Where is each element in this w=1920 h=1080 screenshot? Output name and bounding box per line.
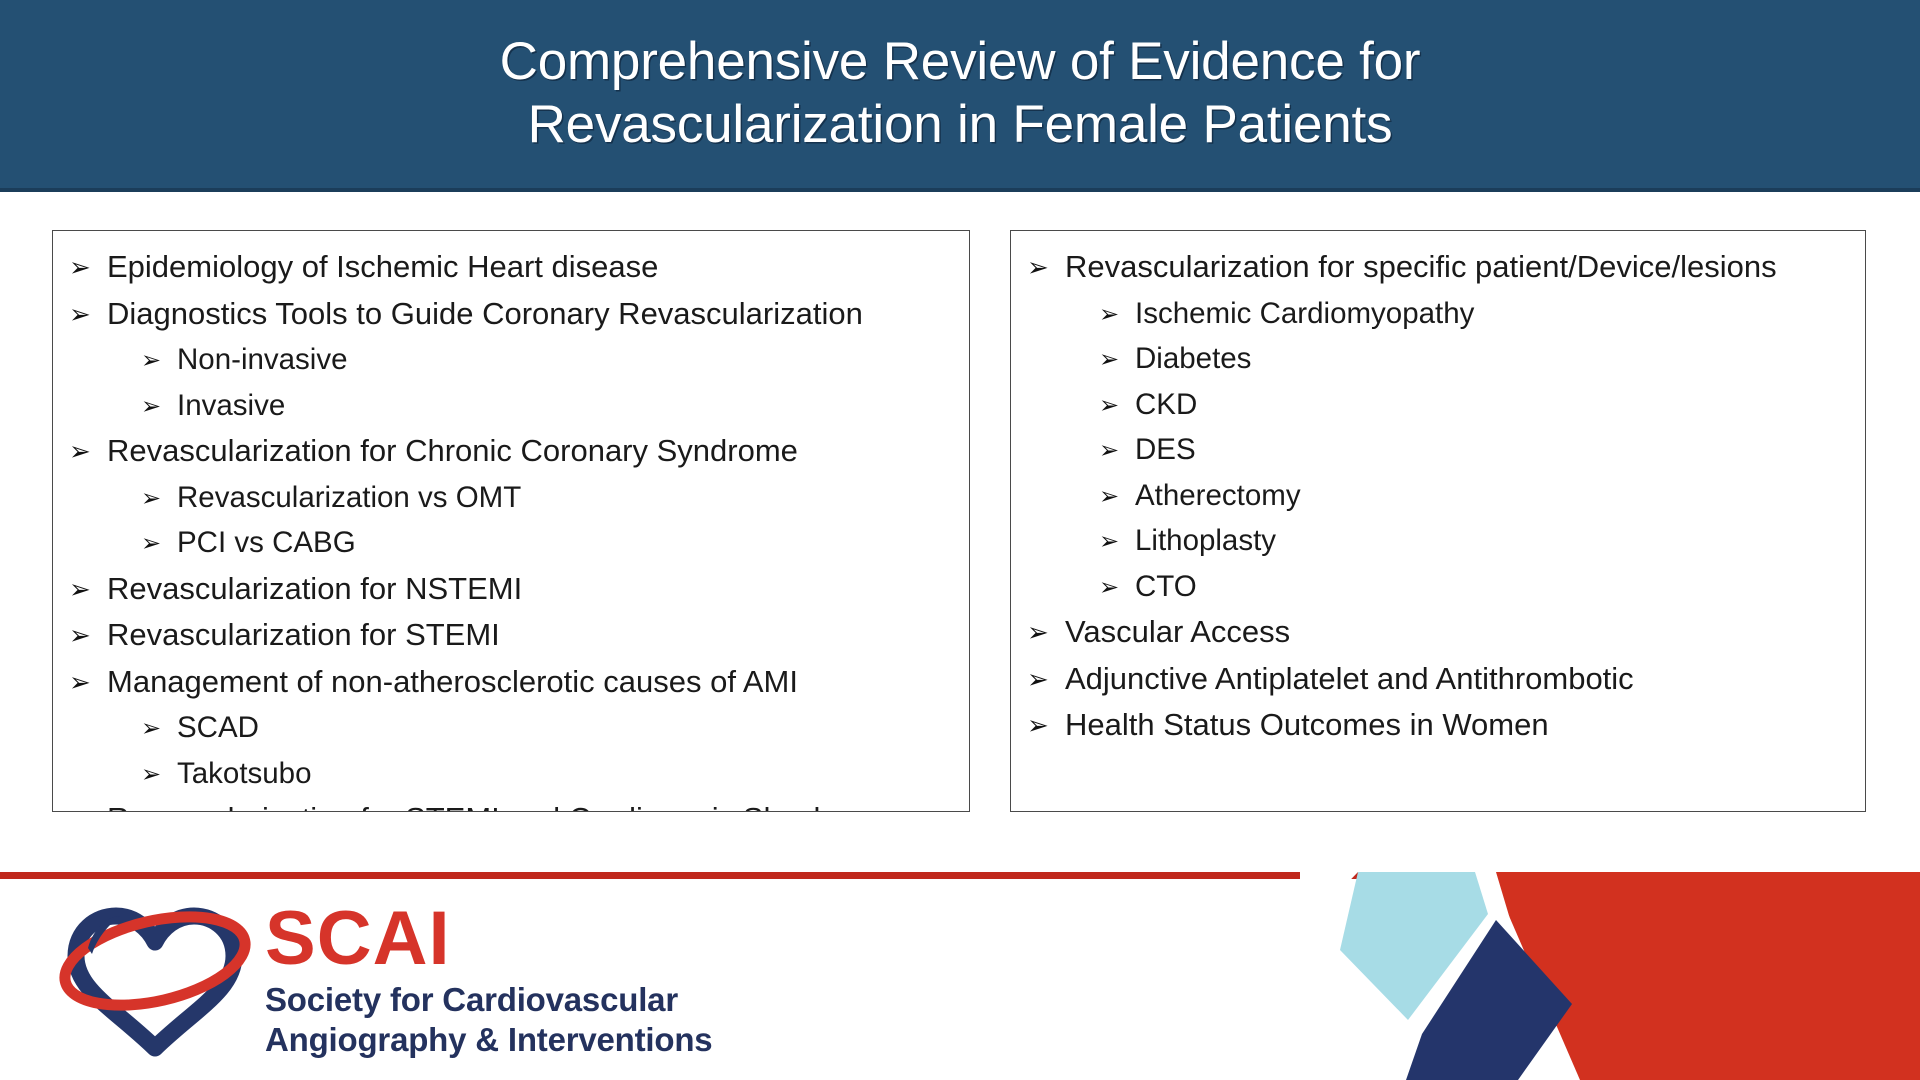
outline-item: ➢Atherectomy [1011, 474, 1855, 520]
arrow-bullet-icon: ➢ [1027, 658, 1065, 703]
outline-item: ➢Revascularization vs OMT [53, 476, 959, 522]
arrow-bullet-icon: ➢ [1099, 383, 1135, 428]
slide-footer: SCAI Society for Cardiovascular Angiogra… [0, 872, 1920, 1080]
outline-item-label: Revascularization for specific patient/D… [1065, 245, 1777, 290]
outline-item: ➢Epidemiology of Ischemic Heart disease [53, 245, 959, 292]
arrow-bullet-icon: ➢ [1099, 565, 1135, 610]
outline-item: ➢Health Status Outcomes in Women [1011, 703, 1855, 750]
arrow-bullet-icon: ➢ [141, 752, 177, 797]
corner-red-shape [1490, 872, 1920, 1080]
outline-item: ➢Revascularization for STEMI and Cardiog… [53, 797, 959, 812]
arrow-bullet-icon: ➢ [69, 246, 107, 291]
arrow-bullet-icon: ➢ [1099, 428, 1135, 473]
arrow-bullet-icon: ➢ [1099, 474, 1135, 519]
arrow-bullet-icon: ➢ [1099, 292, 1135, 337]
outline-item-label: DES [1135, 428, 1196, 473]
outline-item-label: SCAD [177, 706, 259, 751]
outline-item: ➢Revascularization for specific patient/… [1011, 245, 1855, 292]
arrow-bullet-icon: ➢ [1027, 246, 1065, 291]
slide-content: ➢Epidemiology of Ischemic Heart disease➢… [0, 192, 1920, 872]
outline-item: ➢SCAD [53, 706, 959, 752]
outline-item: ➢Takotsubo [53, 752, 959, 798]
arrow-bullet-icon: ➢ [141, 338, 177, 383]
outline-item-label: Revascularization for Chronic Coronary S… [107, 429, 798, 474]
outline-item: ➢Revascularization for Chronic Coronary … [53, 429, 959, 476]
outline-item: ➢Vascular Access [1011, 610, 1855, 657]
scai-tagline-line1: Society for Cardiovascular [265, 980, 712, 1020]
arrow-bullet-icon: ➢ [1027, 704, 1065, 749]
slide-header: Comprehensive Review of Evidence for Rev… [0, 0, 1920, 192]
scai-logo: SCAI Society for Cardiovascular Angiogra… [58, 898, 718, 1068]
outline-item: ➢Diagnostics Tools to Guide Coronary Rev… [53, 292, 959, 339]
arrow-bullet-icon: ➢ [141, 476, 177, 521]
outline-item-label: Epidemiology of Ischemic Heart disease [107, 245, 658, 290]
outline-item-label: Atherectomy [1135, 474, 1301, 519]
outline-item-label: Revascularization for NSTEMI [107, 567, 522, 612]
page-title: Comprehensive Review of Evidence for Rev… [500, 31, 1421, 156]
outline-item-label: Vascular Access [1065, 610, 1290, 655]
arrow-bullet-icon: ➢ [1099, 337, 1135, 382]
outline-item: ➢DES [1011, 428, 1855, 474]
scai-wordmark: SCAI Society for Cardiovascular Angiogra… [265, 898, 712, 1060]
outline-item-label: Revascularization vs OMT [177, 476, 521, 521]
outline-item-label: PCI vs CABG [177, 521, 356, 566]
outline-item-label: CTO [1135, 565, 1197, 610]
outline-item-label: CKD [1135, 383, 1197, 428]
outline-item-label: Diabetes [1135, 337, 1251, 382]
outline-item: ➢Non-invasive [53, 338, 959, 384]
outline-item-label: Non-invasive [177, 338, 348, 383]
corner-decoration-graphic [1300, 872, 1920, 1080]
scai-acronym: SCAI [265, 904, 712, 974]
arrow-bullet-icon: ➢ [141, 384, 177, 429]
outline-item: ➢Lithoplasty [1011, 519, 1855, 565]
outline-item: ➢PCI vs CABG [53, 521, 959, 567]
scai-tagline-line2: Angiography & Interventions [265, 1020, 712, 1060]
outline-item-label: Takotsubo [177, 752, 311, 797]
outline-box-left: ➢Epidemiology of Ischemic Heart disease➢… [52, 230, 970, 812]
arrow-bullet-icon: ➢ [69, 430, 107, 475]
arrow-bullet-icon: ➢ [1027, 611, 1065, 656]
outline-item: ➢CTO [1011, 565, 1855, 611]
outline-item-label: Diagnostics Tools to Guide Coronary Reva… [107, 292, 863, 337]
outline-list-left: ➢Epidemiology of Ischemic Heart disease➢… [53, 245, 959, 812]
outline-box-right: ➢Revascularization for specific patient/… [1010, 230, 1866, 812]
outline-item: ➢Ischemic Cardiomyopathy [1011, 292, 1855, 338]
outline-item: ➢Diabetes [1011, 337, 1855, 383]
outline-item: ➢Management of non-atherosclerotic cause… [53, 660, 959, 707]
outline-item-label: Invasive [177, 384, 285, 429]
arrow-bullet-icon: ➢ [69, 661, 107, 706]
outline-item: ➢Invasive [53, 384, 959, 430]
outline-item: ➢Revascularization for STEMI [53, 613, 959, 660]
outline-item-label: Revascularization for STEMI [107, 613, 500, 658]
outline-item-label: Revascularization for STEMI and Cardioge… [107, 797, 829, 812]
arrow-bullet-icon: ➢ [69, 798, 107, 812]
arrow-bullet-icon: ➢ [69, 293, 107, 338]
outline-item-label: Management of non-atherosclerotic causes… [107, 660, 798, 705]
arrow-bullet-icon: ➢ [1099, 519, 1135, 564]
outline-item-label: Adjunctive Antiplatelet and Antithrombot… [1065, 657, 1634, 702]
scai-heart-icon [58, 898, 253, 1063]
arrow-bullet-icon: ➢ [69, 614, 107, 659]
outline-item-label: Lithoplasty [1135, 519, 1276, 564]
outline-item-label: Ischemic Cardiomyopathy [1135, 292, 1474, 337]
outline-item: ➢Revascularization for NSTEMI [53, 567, 959, 614]
outline-item: ➢CKD [1011, 383, 1855, 429]
arrow-bullet-icon: ➢ [141, 521, 177, 566]
arrow-bullet-icon: ➢ [69, 568, 107, 613]
outline-item: ➢Adjunctive Antiplatelet and Antithrombo… [1011, 657, 1855, 704]
arrow-bullet-icon: ➢ [141, 706, 177, 751]
outline-list-right: ➢Revascularization for specific patient/… [1011, 245, 1855, 750]
outline-item-label: Health Status Outcomes in Women [1065, 703, 1549, 748]
